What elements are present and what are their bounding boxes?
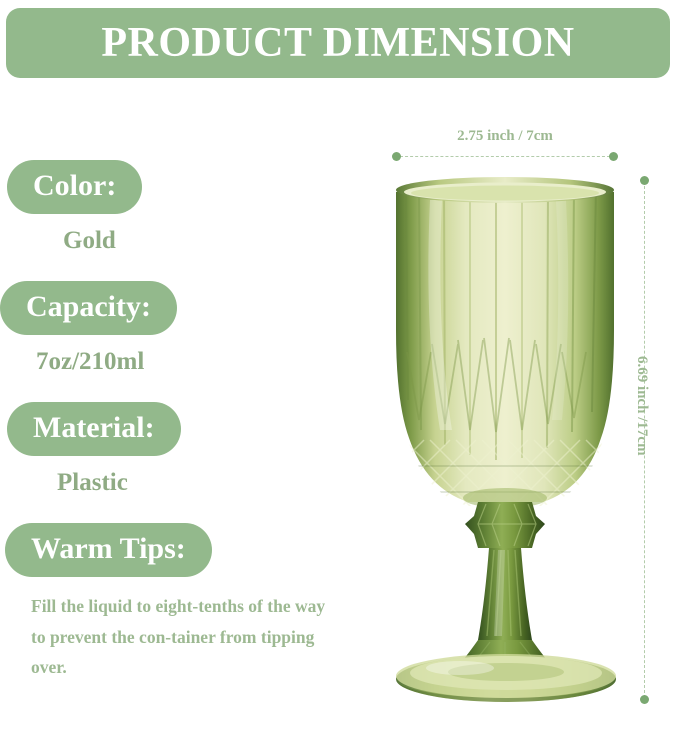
height-dimension: 6.69 inch /17cm <box>636 176 670 708</box>
height-marker-top-dot <box>640 176 649 185</box>
spec-list: Color: Gold Capacity: 7oz/210ml Material… <box>0 160 360 683</box>
height-dimension-label: 6.69 inch /17cm <box>633 356 650 456</box>
page-title: PRODUCT DIMENSION <box>101 22 574 64</box>
spec-label-color: Color: <box>7 160 142 214</box>
width-dimension-label: 2.75 inch / 7cm <box>392 128 618 145</box>
width-dimension-line <box>400 156 610 157</box>
spec-color: Color: Gold <box>7 160 360 253</box>
spec-capacity: Capacity: 7oz/210ml <box>0 281 360 374</box>
width-dimension: 2.75 inch / 7cm <box>392 128 618 162</box>
spec-label-capacity: Capacity: <box>0 281 177 335</box>
spec-value-color: Gold <box>7 214 360 253</box>
height-marker-bottom-dot <box>640 695 649 704</box>
header-banner: PRODUCT DIMENSION <box>6 8 670 78</box>
width-marker-left-dot <box>392 152 401 161</box>
spec-value-material: Plastic <box>7 456 360 495</box>
spec-label-warm-tips: Warm Tips: <box>5 523 212 577</box>
spec-warm-tips: Warm Tips: Fill the liquid to eight-tent… <box>5 523 360 683</box>
width-marker-right-dot <box>609 152 618 161</box>
spec-value-warm-tips: Fill the liquid to eight-tenths of the w… <box>5 577 331 683</box>
spec-value-capacity: 7oz/210ml <box>0 335 360 374</box>
spec-material: Material: Plastic <box>7 402 360 495</box>
spec-label-material: Material: <box>7 402 181 456</box>
